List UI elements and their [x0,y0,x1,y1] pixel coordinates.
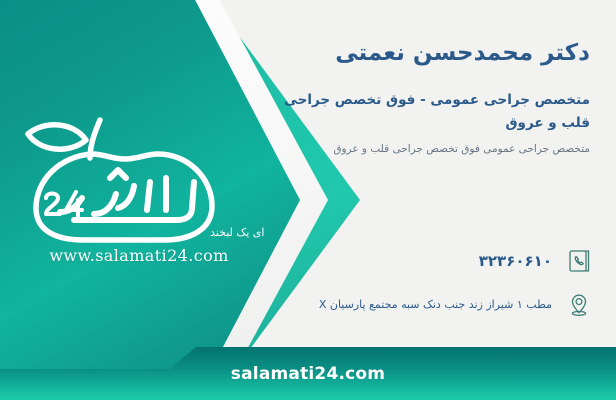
contact-row-phone[interactable]: ۳۲۳۶۰۶۱۰ [254,246,594,276]
doctor-profile-card: برای یک لبخند www.salamati24.com دکتر مح… [0,0,616,400]
profile-content: دکتر محمدحسن نعمتی متخصص جراحی عمومی - ف… [260,30,590,158]
doctor-specialty-secondary: متخصص جراحی عمومی فوق تخصص جراحی قلب و ع… [260,140,590,158]
phone-number: ۳۲۳۶۰۶۱۰ [254,250,552,273]
brand-logo: برای یک لبخند www.salamati24.com [14,112,264,272]
doctor-name: دکتر محمدحسن نعمتی [260,38,590,69]
footer-url[interactable]: salamati24.com [231,364,385,384]
logo-tagline-text: برای یک لبخند [210,226,264,239]
salamati-apple-logo-icon: برای یک لبخند [14,112,264,244]
phone-book-icon [564,246,594,276]
clinic-address: مطب ۱ شیراز زند جنب دنک سبه مجتمع پارسیا… [254,297,552,314]
logo-url-text: www.salamati24.com [49,246,228,265]
footer-bar: salamati24.com [0,347,616,400]
doctor-specialty: متخصص جراحی عمومی - فوق تخصص جراحی قلب و… [260,89,590,135]
map-pin-icon [564,290,594,320]
contact-row-address[interactable]: مطب ۱ شیراز زند جنب دنک سبه مجتمع پارسیا… [254,290,594,320]
contact-info-block: ۳۲۳۶۰۶۱۰ مطب ۱ شیراز زند جنب دنک سبه مجت… [254,246,594,334]
